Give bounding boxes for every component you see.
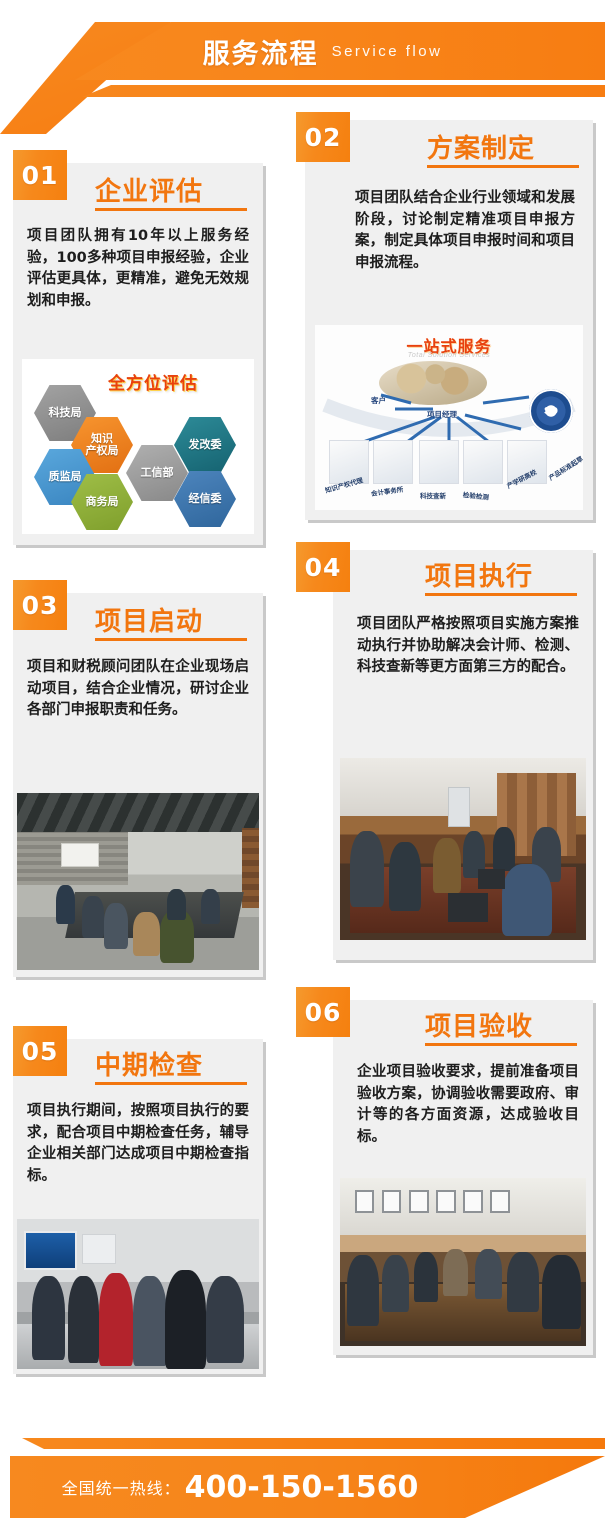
photo-whiteboard	[61, 843, 100, 868]
page-title: 服务流程 Service flow	[0, 24, 605, 78]
step-title: 项目验收	[425, 1006, 533, 1043]
photo-person	[414, 1252, 439, 1302]
photo-working-meeting	[340, 758, 586, 940]
step-figure-one-stop-service: 一站式服务 Total Solution Services 客户 项目经理	[315, 325, 583, 510]
photo-wall-frame	[463, 1190, 483, 1214]
step-figure-photo-large-meeting	[340, 1178, 586, 1346]
hex-node-label: 经信委	[189, 493, 222, 506]
step-description: 项目执行期间，按照项目执行的要求，配合项目中期检查任务，辅导企业相关部门达成项目…	[27, 1101, 249, 1187]
photo-display-panel	[24, 1231, 77, 1270]
photo-person	[68, 1276, 99, 1363]
photo-laptop	[478, 869, 505, 889]
photo-person	[443, 1249, 468, 1296]
page-title-en: Service flow	[332, 43, 443, 60]
photo-air-conditioner	[448, 787, 470, 827]
step-number-badge: 01	[13, 150, 67, 200]
photo-person	[347, 1255, 379, 1326]
photo-large-meeting	[340, 1178, 586, 1346]
figure-title: 全方位评估	[108, 369, 198, 394]
photo-person	[201, 889, 220, 924]
step-card-02[interactable]: 02 方案制定 项目团队结合企业行业领域和发展阶段，讨论制定精准项目申报方案，制…	[305, 120, 593, 520]
photo-person	[133, 912, 160, 956]
step-figure-hexagon-diagram: 全方位评估 科技局 知识 产权局 质监局 商务局 工信部 发改委 经信委	[22, 359, 254, 534]
step-number-badge: 04	[296, 542, 350, 592]
step-card-03[interactable]: 03 项目启动 项目和财税顾问团队在企业现场启动项目，结合企业情况，研讨企业各部…	[13, 593, 263, 977]
photo-person	[502, 864, 551, 937]
hex-node-label: 商务局	[86, 496, 119, 509]
one-stop-service-diagram: 一站式服务 Total Solution Services 客户 项目经理	[315, 325, 583, 510]
step-card-06[interactable]: 06 项目验收 企业项目验收要求，提前准备项目验收方案，协调验收需要政府、审计等…	[333, 1000, 593, 1355]
step-description: 项目和财税顾问团队在企业现场启动项目，结合企业情况，研讨企业各部门申报职责和任务…	[27, 657, 249, 722]
photo-wall-frame	[436, 1190, 456, 1214]
hex-node-label: 工信部	[141, 467, 174, 480]
hotline-number: 400-150-1560	[185, 1470, 419, 1505]
photo-person	[104, 903, 128, 949]
step-description: 企业项目验收要求，提前准备项目验收方案，协调验收需要政府、审计等的各方面资源，达…	[357, 1062, 579, 1148]
step-card-04[interactable]: 04 项目执行 项目团队严格按照项目实施方案推动执行并协助解决会计师、检测、科技…	[333, 550, 593, 960]
figure-thumb-4	[463, 440, 503, 484]
footer-accent-stripe	[22, 1438, 605, 1449]
step-number-badge: 05	[13, 1026, 67, 1076]
step-figure-photo-conference-room	[17, 793, 259, 970]
figure-thumb-2	[373, 440, 413, 484]
hex-node-label: 发改委	[189, 439, 222, 452]
hex-node-label: 质监局	[49, 471, 82, 484]
step-title: 项目启动	[95, 601, 203, 638]
photo-poster	[82, 1234, 116, 1264]
photo-person	[99, 1273, 133, 1366]
photo-person	[493, 827, 515, 871]
photo-site-visit	[17, 1219, 259, 1369]
hex-node-label: 科技局	[49, 407, 82, 420]
photo-person	[350, 831, 384, 907]
photo-person	[133, 1276, 167, 1366]
step-description: 项目团队结合企业行业领域和发展阶段，讨论制定精准项目申报方案，制定具体项目申报时…	[355, 188, 575, 274]
step-number-badge: 02	[296, 112, 350, 162]
title-underline	[427, 165, 579, 168]
figure-thumb-3	[419, 440, 459, 484]
step-title: 项目执行	[425, 556, 533, 593]
step-number-badge: 03	[13, 580, 67, 630]
photo-person	[56, 885, 75, 924]
photo-person	[507, 1252, 539, 1312]
figure-node-manager: 项目经理	[427, 409, 457, 420]
step-description: 项目团队严格按照项目实施方案推动执行并协助解决会计师、检测、科技查新等更方面第三…	[357, 614, 579, 679]
photo-person	[165, 1270, 206, 1369]
step-title: 方案制定	[427, 128, 535, 165]
title-underline	[95, 1082, 247, 1085]
title-underline	[95, 638, 247, 641]
title-underline	[95, 208, 247, 211]
step-figure-photo-working-meeting	[340, 758, 586, 940]
page-footer: 全国统一热线： 400-150-1560	[0, 1400, 605, 1538]
photo-person	[206, 1276, 245, 1363]
step-number-badge: 06	[296, 987, 350, 1037]
photo-wall-frame	[382, 1190, 402, 1214]
photo-person	[167, 889, 186, 921]
page-header: 服务流程 Service flow	[0, 0, 605, 112]
photo-wood-panel	[242, 828, 259, 908]
photo-person	[32, 1276, 66, 1360]
photo-ceiling	[17, 793, 259, 832]
figure-node-customer: 客户	[371, 395, 386, 406]
hotline-label: 全国统一热线：	[62, 1475, 181, 1499]
photo-person	[82, 896, 104, 938]
step-title: 中期检查	[95, 1045, 203, 1082]
step-card-01[interactable]: 01 企业评估 项目团队拥有10年以上服务经验，100多种项目申报经验，企业评估…	[13, 163, 263, 545]
hotline: 全国统一热线： 400-150-1560	[0, 1456, 480, 1518]
figure-seal-icon	[529, 389, 573, 433]
title-underline	[425, 1043, 577, 1046]
photo-wall-frame	[355, 1190, 375, 1214]
figure-label-3: 科技查新	[420, 490, 446, 500]
photo-person	[433, 838, 460, 893]
photo-person	[475, 1249, 502, 1299]
step-figure-photo-site-visit	[17, 1219, 259, 1369]
title-underline	[425, 593, 577, 596]
hexagon-diagram: 全方位评估 科技局 知识 产权局 质监局 商务局 工信部 发改委 经信委	[22, 359, 254, 534]
hex-node-label: 知识 产权局	[86, 433, 119, 458]
step-card-05[interactable]: 05 中期检查 项目执行期间，按照项目执行的要求，配合项目中期检查任务，辅导企业…	[13, 1039, 263, 1374]
step-title: 企业评估	[95, 171, 203, 208]
photo-person	[542, 1255, 581, 1329]
photo-conference-room	[17, 793, 259, 970]
photo-person	[389, 842, 421, 911]
photo-wall-frame	[490, 1190, 510, 1214]
photo-person	[382, 1255, 409, 1312]
page-title-cn: 服务流程	[203, 32, 319, 71]
photo-laptop	[448, 893, 487, 922]
step-description: 项目团队拥有10年以上服务经验，100多种项目申报经验，企业评估更具体，更精准，…	[27, 226, 249, 312]
photo-wall-frame	[409, 1190, 429, 1214]
